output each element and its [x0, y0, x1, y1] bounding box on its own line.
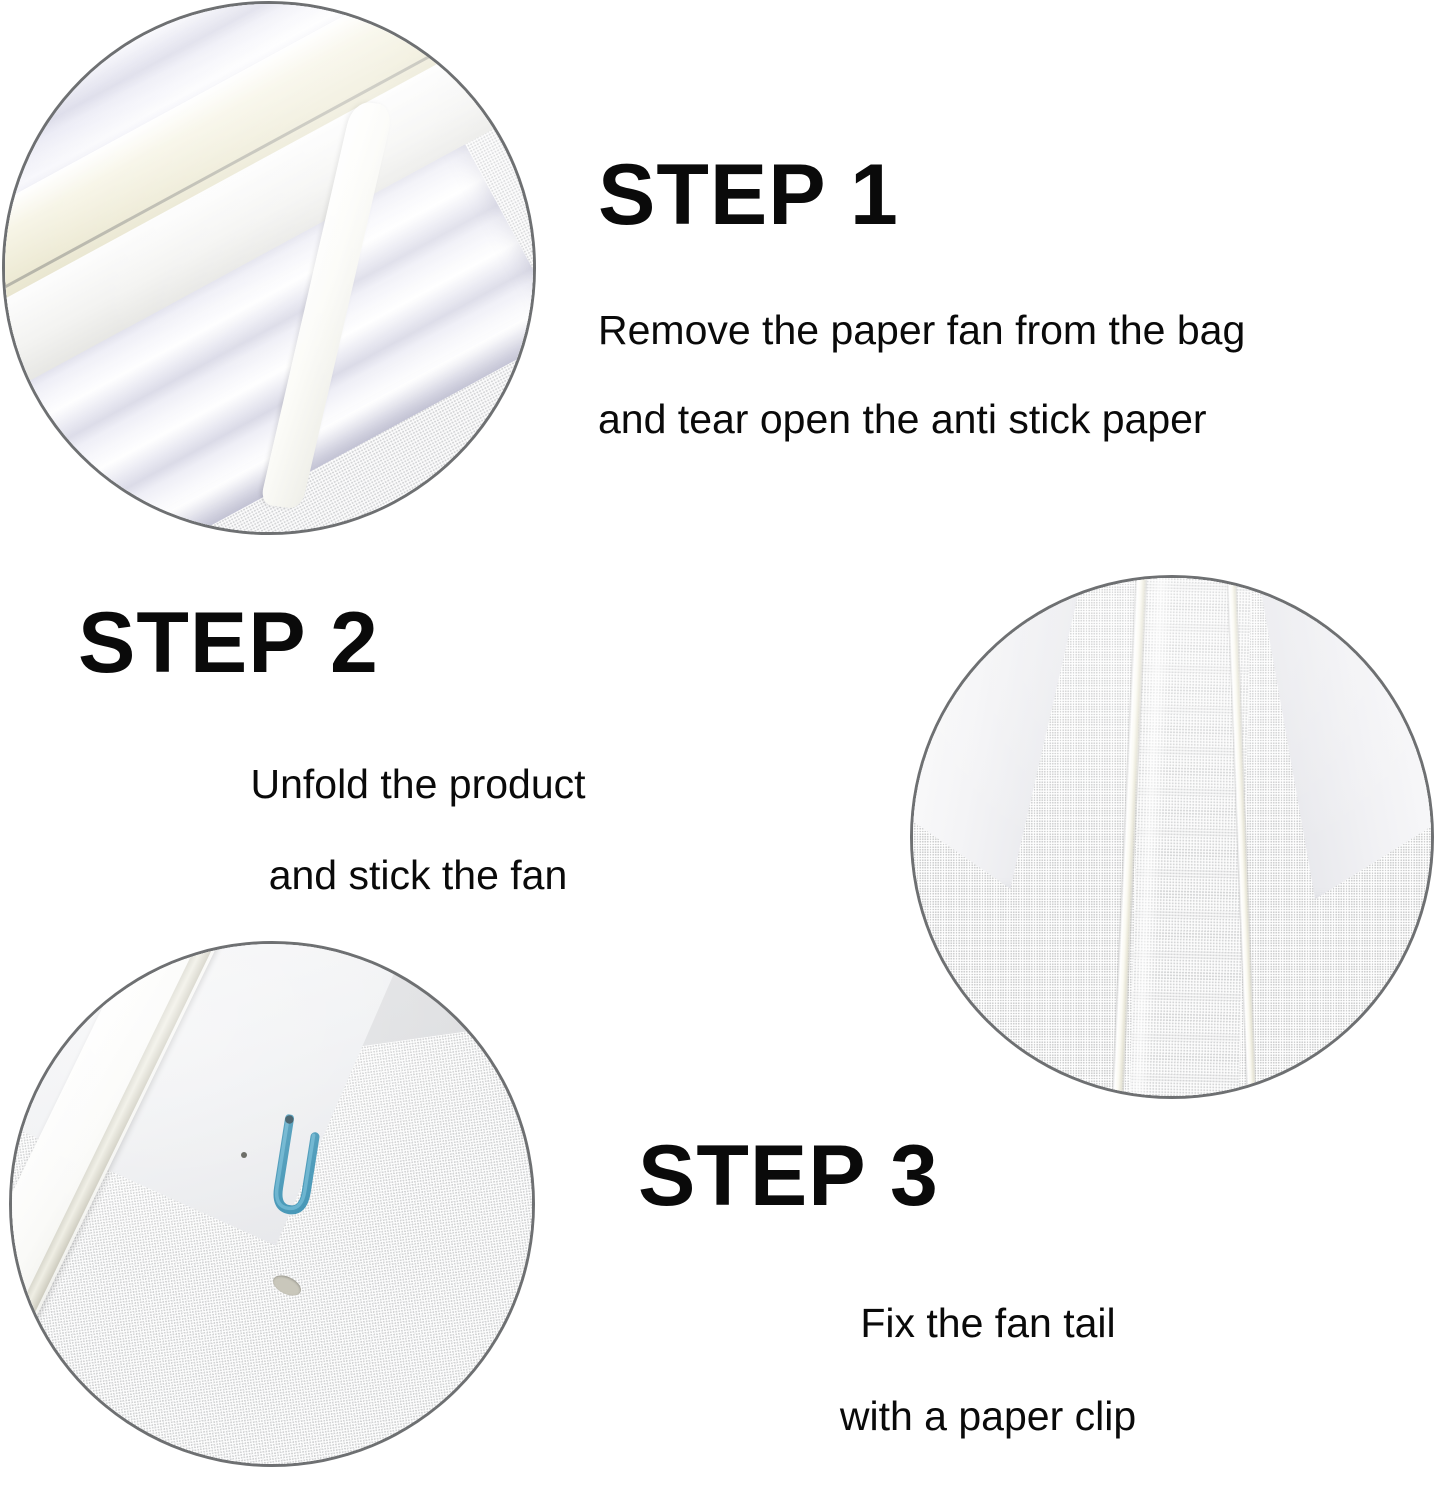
- step-1-photo-circle: [5, 4, 533, 532]
- step-3-heading: STEP 3: [638, 1133, 1338, 1219]
- step-1-heading: STEP 1: [598, 152, 1245, 238]
- step-3-photo-circle: [12, 944, 532, 1464]
- photo-highlight: [12, 944, 532, 1464]
- instruction-infographic: STEP 1 Remove the paper fan from the bag…: [0, 0, 1441, 1500]
- step-2-heading: STEP 2: [78, 600, 758, 686]
- step-2-text-block: STEP 2 Unfold the product and stick the …: [78, 600, 758, 896]
- step-3-photo: [12, 944, 532, 1464]
- step-2-line-1: Unfold the product: [78, 764, 758, 805]
- step-1-text-block: STEP 1 Remove the paper fan from the bag…: [598, 152, 1245, 440]
- step-3-text-block: STEP 3 Fix the fan tail with a paper cli…: [638, 1133, 1338, 1437]
- step-2-photo: [913, 578, 1431, 1096]
- step-1-line-2: and tear open the anti stick paper: [598, 399, 1245, 440]
- step-1-photo: [5, 4, 533, 532]
- step-3-line-1: Fix the fan tail: [638, 1303, 1338, 1344]
- step-2-photo-circle: [913, 578, 1431, 1096]
- step-1-line-1: Remove the paper fan from the bag: [598, 310, 1245, 351]
- photo-highlight: [5, 4, 533, 532]
- step-3-line-2: with a paper clip: [638, 1396, 1338, 1437]
- photo-highlight: [913, 578, 1431, 1096]
- step-2-line-2: and stick the fan: [78, 855, 758, 896]
